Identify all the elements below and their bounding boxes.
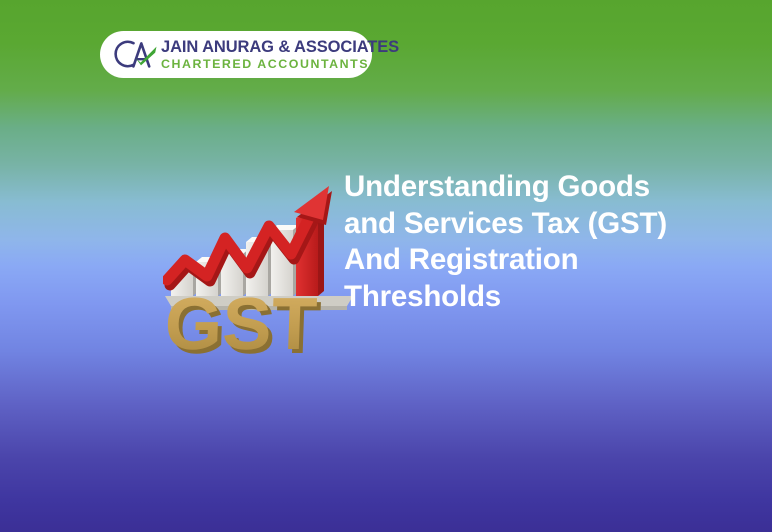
logo-text-block: JAIN ANURAG & ASSOCIATES CHARTERED ACCOU… [161,39,399,70]
logo-firm-name: JAIN ANURAG & ASSOCIATES [161,39,399,56]
page-title: Understanding Goods and Services Tax (GS… [344,169,674,315]
logo-subtitle: CHARTERED ACCOUNTANTS [161,58,399,70]
gst-growth-chart-illustration: GST GST [163,176,355,360]
svg-text:GST: GST [163,282,318,360]
ca-monogram-icon [114,38,158,72]
gst-article-banner: JAIN ANURAG & ASSOCIATES CHARTERED ACCOU… [0,0,772,532]
company-logo-badge: JAIN ANURAG & ASSOCIATES CHARTERED ACCOU… [100,31,372,78]
